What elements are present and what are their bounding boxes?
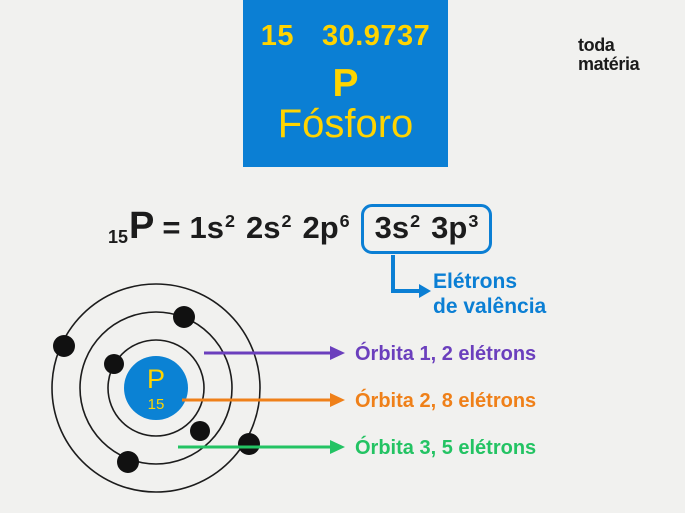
element-name: Fósforo xyxy=(243,104,448,144)
shell-1s: 1s2 xyxy=(190,210,235,246)
logo-line-1: toda xyxy=(578,36,639,55)
orbit-2-label: Órbita 2, 8 elétrons xyxy=(355,391,536,411)
orbit-1-label: Órbita 1, 2 elétrons xyxy=(355,344,536,364)
bohr-model-diagram: P 15 xyxy=(28,276,318,506)
electron xyxy=(190,421,210,441)
valence-callout-arrow-icon xyxy=(389,255,439,301)
orbit-3-arrowhead-icon xyxy=(330,440,345,454)
valence-callout-line-2: de valência xyxy=(433,295,546,320)
valence-callout-line-1: Elétrons xyxy=(433,270,546,295)
element-tile-header: 15 30.9737 xyxy=(243,22,448,51)
orbit-3-label: Órbita 3, 5 elétrons xyxy=(355,438,536,458)
orbit-1-arrowhead-icon xyxy=(330,346,345,360)
shell-2s: 2s2 xyxy=(246,210,291,246)
atomic-number: 15 xyxy=(261,22,294,51)
shell-3s: 3s2 xyxy=(375,210,420,246)
brand-logo: toda matéria xyxy=(578,36,639,75)
element-symbol: P xyxy=(243,64,448,103)
electron xyxy=(238,433,260,455)
shell-2p: 2p6 xyxy=(302,210,349,246)
atomic-mass: 30.9737 xyxy=(322,22,430,51)
electron xyxy=(173,306,195,328)
electron-configuration-formula: 15 P = 1s2 2s2 2p6 3s2 3p3 xyxy=(108,204,492,254)
logo-line-2: matéria xyxy=(578,55,639,74)
nucleus-number: 15 xyxy=(148,396,165,413)
element-tile: 15 30.9737 P Fósforo xyxy=(243,0,448,167)
formula-symbol: P xyxy=(129,205,154,248)
orbit-2-arrowhead-icon xyxy=(330,393,345,407)
valence-shell-box: 3s2 3p3 xyxy=(361,204,493,254)
shell-3p: 3p3 xyxy=(431,210,478,246)
electron xyxy=(117,451,139,473)
electron xyxy=(104,354,124,374)
formula-atomic-number: 15 xyxy=(108,227,128,248)
valence-callout-label: Elétrons de valência xyxy=(433,270,546,320)
electron xyxy=(53,335,75,357)
formula-equals: = xyxy=(162,210,180,246)
nucleus-symbol: P xyxy=(147,364,165,394)
